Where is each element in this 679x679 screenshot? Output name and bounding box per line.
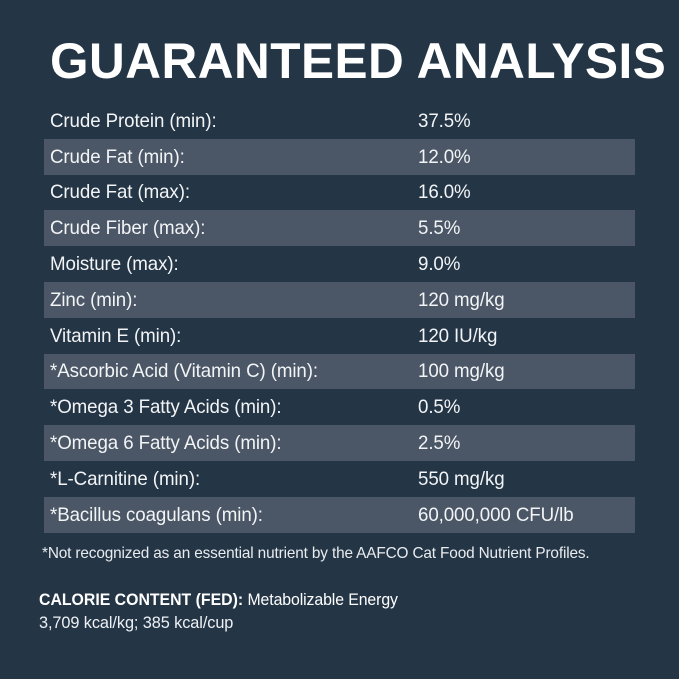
- nutrient-label: Crude Protein (min):: [50, 110, 403, 132]
- nutrient-value: 100 mg/kg: [418, 360, 626, 382]
- table-row: *L-Carnitine (min):550 mg/kg: [44, 461, 635, 497]
- calorie-content-energy-type: Metabolizable Energy: [243, 591, 398, 609]
- table-row: *Omega 6 Fatty Acids (min):2.5%: [44, 425, 635, 461]
- nutrient-value: 12.0%: [418, 146, 626, 168]
- table-row: Moisture (max):9.0%: [44, 246, 635, 282]
- nutrient-label: *Omega 3 Fatty Acids (min):: [50, 396, 403, 418]
- nutrient-label: *Ascorbic Acid (Vitamin C) (min):: [50, 360, 403, 382]
- nutrient-value: 5.5%: [418, 217, 626, 239]
- nutrient-label: Moisture (max):: [50, 253, 403, 275]
- table-row: Vitamin E (min):120 IU/kg: [44, 318, 635, 354]
- nutrient-value: 60,000,000 CFU/lb: [418, 504, 626, 526]
- nutrient-value: 2.5%: [418, 432, 626, 454]
- guaranteed-analysis-panel: GUARANTEED ANALYSIS Crude Protein (min):…: [0, 0, 679, 679]
- nutrient-label: Vitamin E (min):: [50, 325, 403, 347]
- table-row: *Bacillus coagulans (min):60,000,000 CFU…: [44, 497, 635, 533]
- table-row: *Ascorbic Acid (Vitamin C) (min):100 mg/…: [44, 354, 635, 390]
- nutrient-value: 120 mg/kg: [418, 289, 626, 311]
- nutrient-label: *Bacillus coagulans (min):: [50, 504, 403, 526]
- calorie-content-heading-line: CALORIE CONTENT (FED): Metabolizable Ene…: [39, 589, 615, 611]
- nutrient-label: *Omega 6 Fatty Acids (min):: [50, 432, 403, 454]
- table-row: Zinc (min):120 mg/kg: [44, 282, 635, 318]
- nutrient-label: Zinc (min):: [50, 289, 403, 311]
- calorie-content-block: CALORIE CONTENT (FED): Metabolizable Ene…: [39, 589, 639, 634]
- nutrient-value: 16.0%: [418, 181, 626, 203]
- nutrient-value: 120 IU/kg: [418, 325, 626, 347]
- nutrient-label: Crude Fat (min):: [50, 146, 403, 168]
- table-row: Crude Fat (max):16.0%: [44, 175, 635, 211]
- nutrient-value: 550 mg/kg: [418, 468, 626, 490]
- calorie-content-detail: 3,709 kcal/kg; 385 kcal/cup: [39, 611, 615, 634]
- nutrient-label: Crude Fiber (max):: [50, 217, 403, 239]
- nutrient-label: Crude Fat (max):: [50, 181, 403, 203]
- calorie-content-label: CALORIE CONTENT (FED):: [39, 591, 243, 609]
- nutrient-label: *L-Carnitine (min):: [50, 468, 403, 490]
- guaranteed-analysis-table: Crude Protein (min):37.5%Crude Fat (min)…: [44, 103, 635, 533]
- table-row: Crude Fiber (max):5.5%: [44, 210, 635, 246]
- table-row: Crude Protein (min):37.5%: [44, 103, 635, 139]
- nutrient-value: 0.5%: [418, 396, 626, 418]
- nutrient-value: 9.0%: [418, 253, 626, 275]
- table-row: Crude Fat (min):12.0%: [44, 139, 635, 175]
- table-row: *Omega 3 Fatty Acids (min):0.5%: [44, 389, 635, 425]
- footnote-text: *Not recognized as an essential nutrient…: [42, 544, 618, 564]
- page-title: GUARANTEED ANALYSIS: [50, 33, 634, 89]
- nutrient-value: 37.5%: [418, 110, 626, 132]
